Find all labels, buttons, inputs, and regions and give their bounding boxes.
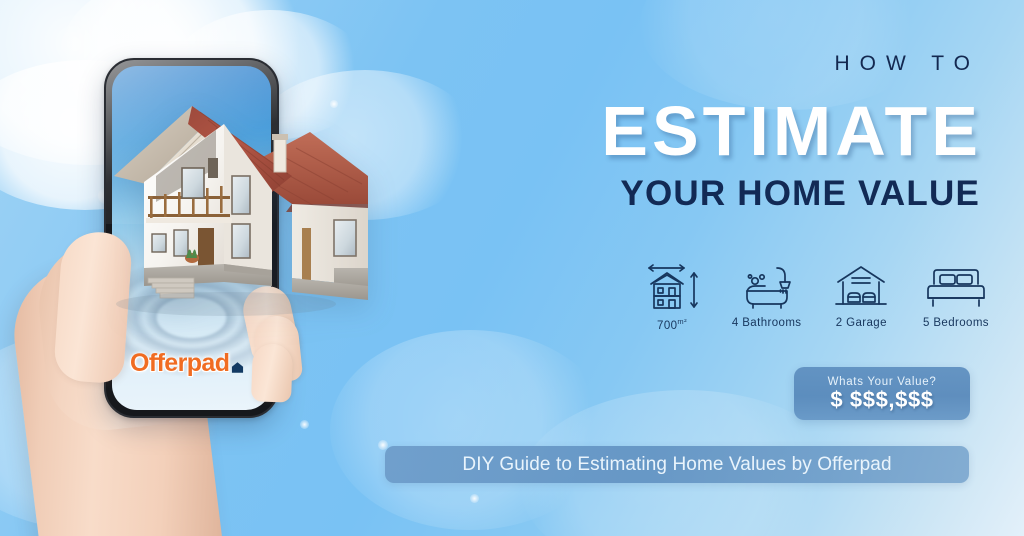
caption-text: DIY Guide to Estimating Home Values by O… — [462, 454, 891, 476]
offerpad-logo[interactable]: Offerpad — [130, 351, 244, 376]
value-estimate-card[interactable]: Whats Your Value? $ $$$,$$$ — [794, 367, 970, 420]
feature-item-bedrooms: 5 Bedrooms — [912, 258, 1000, 329]
house-dimensions-icon — [628, 258, 716, 312]
garage-cars-icon — [817, 258, 905, 312]
page-subtitle: YOUR HOME VALUE — [620, 176, 980, 211]
promo-banner: Offerpad — [0, 0, 1024, 536]
value-estimate-amount: $ $$$,$$$ — [830, 389, 933, 411]
feature-item-area: 700m² — [628, 258, 716, 332]
feature-label-bedrooms: 5 Bedrooms — [912, 317, 1000, 329]
sparkle-decoration — [470, 494, 479, 503]
feature-label-bathrooms: 4 Bathrooms — [723, 317, 811, 329]
cloud-decoration — [330, 330, 610, 530]
feature-label-area: 700m² — [628, 317, 716, 332]
eyebrow-text: HOW TO — [834, 52, 980, 76]
bathtub-shower-icon — [723, 258, 811, 312]
phone-in-hand-illustration: Offerpad — [0, 0, 360, 536]
finger-illustration — [251, 343, 293, 402]
caption-bar[interactable]: DIY Guide to Estimating Home Values by O… — [385, 446, 969, 483]
double-bed-icon — [912, 258, 1000, 312]
house-pentagon-icon — [231, 361, 244, 374]
house-3d-render — [96, 72, 368, 322]
page-title: ESTIMATE — [601, 96, 982, 166]
feature-item-bathrooms: 4 Bathrooms — [723, 258, 811, 329]
property-features-list: 700m² 4 Bathrooms — [628, 258, 1000, 340]
feature-label-garage: 2 Garage — [817, 317, 905, 329]
feature-item-garage: 2 Garage — [817, 258, 905, 329]
offerpad-logo-text: Offerpad — [130, 351, 229, 376]
